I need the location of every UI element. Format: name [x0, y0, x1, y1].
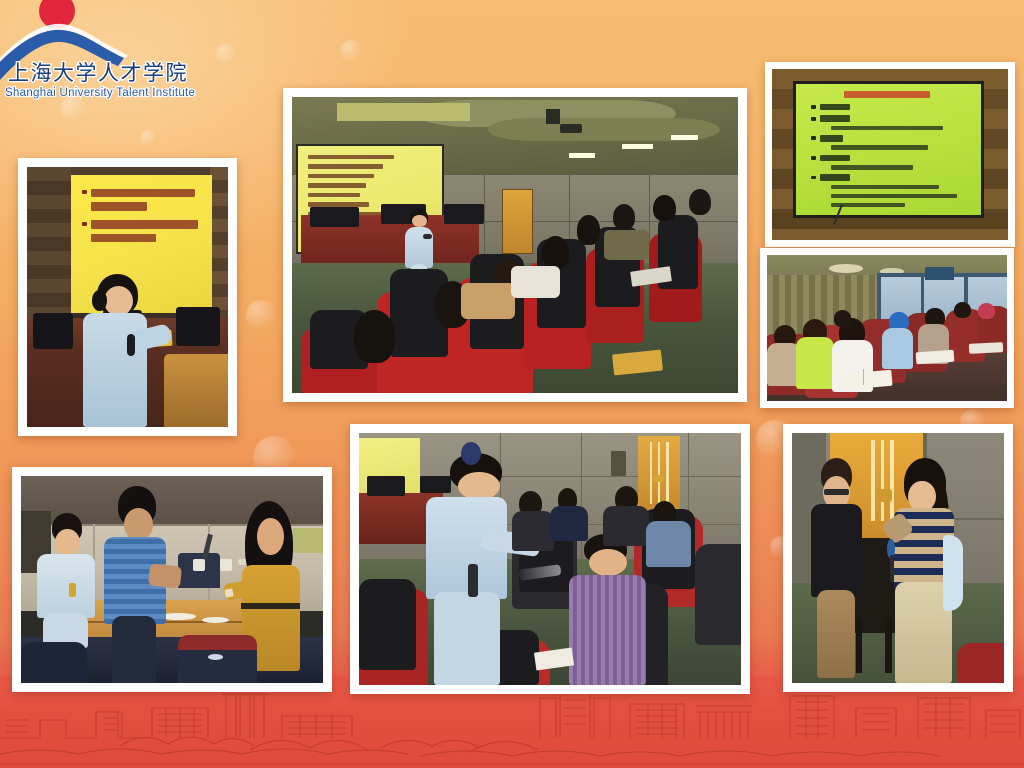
- photo-f-instructor: [36, 513, 96, 648]
- photo-e-student: [565, 534, 649, 685]
- background-bubble: [216, 44, 236, 64]
- photo-a-image: [27, 167, 228, 427]
- photo-b-door: [502, 189, 533, 254]
- photo-c-slide: [793, 81, 984, 218]
- institute-logo: 上海大学人才学院 Shanghai University Talent Inst…: [0, 0, 200, 105]
- logo-chinese-name: 上海大学人才学院: [8, 61, 188, 85]
- background-bubble: [246, 300, 276, 330]
- background-bubble: [140, 130, 156, 146]
- photo-a-lecturer: [75, 281, 167, 427]
- photo-audience-taking-notes[interactable]: [760, 248, 1014, 408]
- photo-e-instructor: [420, 453, 519, 685]
- photo-g-female-student: [890, 458, 962, 683]
- photo-g-image: [792, 433, 1004, 683]
- photo-business-card-exchange-demo[interactable]: [12, 467, 332, 692]
- photo-lecture-hall-overview[interactable]: [283, 88, 747, 402]
- photo-b-image: [292, 97, 738, 393]
- photo-instructor-handing-microphone[interactable]: [350, 424, 750, 694]
- photo-e-image: [359, 433, 741, 685]
- photo-projection-slide-body-language[interactable]: [765, 62, 1015, 247]
- collage-canvas: 上海大学人才学院 Shanghai University Talent Inst…: [0, 0, 1024, 768]
- logo-english-name: Shanghai University Talent Institute: [5, 87, 195, 99]
- photo-f-male-student: [103, 486, 169, 683]
- photo-d-image: [767, 255, 1007, 401]
- photo-f-image: [21, 476, 323, 683]
- photo-c-image: [772, 69, 1008, 240]
- photo-lecturer-with-microphone[interactable]: [18, 158, 237, 436]
- photo-g-male-student: [809, 458, 864, 678]
- background-bubble: [340, 40, 362, 62]
- photo-g-eyeglasses-icon: [824, 489, 849, 496]
- logo-mark: 上海大学人才学院 Shanghai University Talent Inst…: [0, 0, 200, 105]
- photo-student-pair-roleplay[interactable]: [783, 424, 1013, 692]
